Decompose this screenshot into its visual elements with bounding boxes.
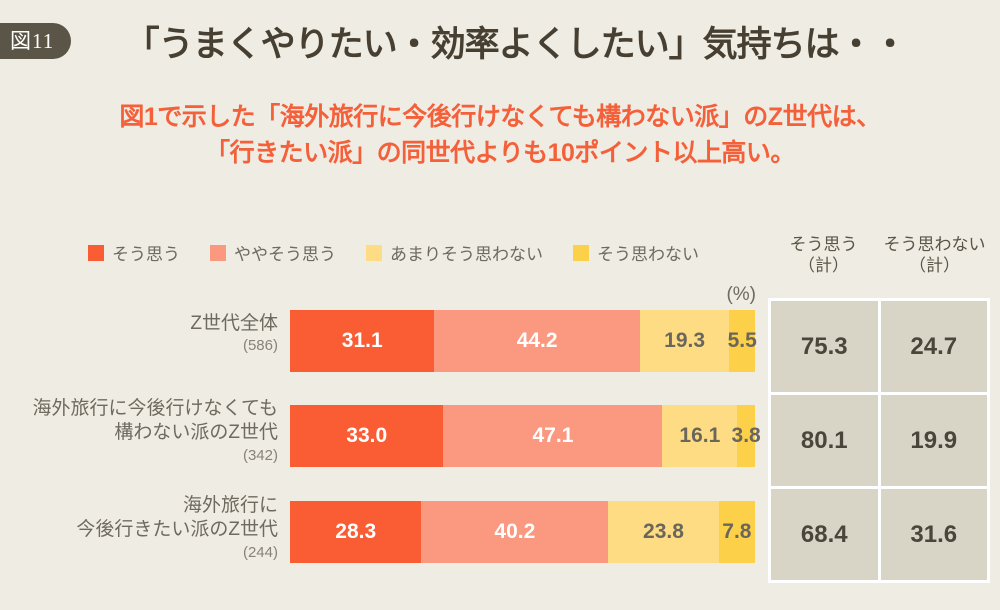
chart-row: 海外旅行に今後行けなくても 構わない派のZ世代 (342) 33.0 47.1 … [0, 397, 760, 492]
bar-segment-somewhat-agree[interactable]: 44.2 [434, 310, 639, 372]
bar-segment-value: 3.8 [732, 424, 761, 448]
bar-segment-value: 23.8 [643, 520, 684, 544]
chart-legend: そう思う ややそう思う あまりそう思わない そう思わない [88, 240, 760, 265]
legend-item-somewhat-agree[interactable]: ややそう思う [210, 240, 336, 265]
bar-segment-value: 5.5 [728, 329, 757, 353]
summary-cell-agree: 68.4 [771, 489, 878, 580]
summary-header-agree-total: そう思う （計） [768, 232, 879, 298]
bar-segment-agree[interactable]: 33.0 [290, 405, 443, 467]
row-label-text: 構わない派のZ世代 [0, 421, 278, 445]
bar-segment-disagree[interactable]: 7.8 [719, 501, 755, 563]
legend-item-agree[interactable]: そう思う [88, 240, 180, 265]
bar-segment-value: 47.1 [533, 424, 574, 448]
page-title: 「うまくやりたい・効率よくしたい」気持ちは・・ [71, 16, 1000, 67]
subtitle-line-1: 図1で示した「海外旅行に今後行けなくても構わない派」のZ世代は、 [0, 100, 1000, 136]
legend-swatch-icon [573, 245, 589, 261]
legend-label: ややそう思う [234, 240, 336, 265]
bar-segment-value: 28.3 [335, 520, 376, 544]
bar-segment-somewhat-agree[interactable]: 47.1 [443, 405, 662, 467]
legend-label: そう思う [112, 240, 180, 265]
legend-label: そう思わない [597, 240, 699, 265]
bar-segment-somewhat-agree[interactable]: 40.2 [421, 501, 608, 563]
row-label: Z世代全体 (586) [0, 312, 278, 354]
row-label: 海外旅行に 今後行きたい派のZ世代 (244) [0, 494, 278, 561]
bar-segment-value: 44.2 [517, 329, 558, 353]
chart-row: 海外旅行に 今後行きたい派のZ世代 (244) 28.3 40.2 23.8 7… [0, 492, 760, 587]
legend-label: あまりそう思わない [390, 240, 543, 265]
chart-row: Z世代全体 (586) 31.1 44.2 19.3 5.5 [0, 302, 760, 397]
bar-segment-agree[interactable]: 28.3 [290, 501, 421, 563]
summary-header-line-1: そう思わない [879, 234, 990, 255]
summary-header-disagree-total: そう思わない （計） [879, 232, 990, 298]
summary-cell-disagree: 24.7 [881, 301, 988, 392]
summary-cell-agree: 75.3 [771, 301, 878, 392]
row-label-text: 海外旅行に [0, 494, 278, 518]
stacked-bar-chart: Z世代全体 (586) 31.1 44.2 19.3 5.5 海外旅行に今後行け… [0, 302, 760, 587]
bar-segment-not-much-agree[interactable]: 16.1 [662, 405, 737, 467]
stacked-bar: 33.0 47.1 16.1 3.8 [290, 405, 755, 467]
legend-swatch-icon [366, 245, 382, 261]
bar-segment-value: 40.2 [494, 520, 535, 544]
legend-item-disagree[interactable]: そう思わない [573, 240, 699, 265]
summary-cell-agree: 80.1 [771, 395, 878, 486]
bar-segment-not-much-agree[interactable]: 23.8 [608, 501, 719, 563]
summary-table-body: 75.3 24.7 80.1 19.9 68.4 31.6 [768, 298, 990, 583]
page-header: 図11 「うまくやりたい・効率よくしたい」気持ちは・・ [0, 0, 1000, 78]
stacked-bar: 28.3 40.2 23.8 7.8 [290, 501, 755, 563]
bar-segment-disagree[interactable]: 3.8 [737, 405, 755, 467]
subtitle: 図1で示した「海外旅行に今後行けなくても構わない派」のZ世代は、 「行きたい派」… [0, 100, 1000, 171]
legend-item-not-much-agree[interactable]: あまりそう思わない [366, 240, 543, 265]
row-label: 海外旅行に今後行けなくても 構わない派のZ世代 (342) [0, 397, 278, 464]
summary-cell-disagree: 19.9 [881, 395, 988, 486]
legend-swatch-icon [88, 245, 104, 261]
summary-header-line-1: そう思う [768, 234, 879, 255]
legend-swatch-icon [210, 245, 226, 261]
summary-cell-disagree: 31.6 [881, 489, 988, 580]
summary-header-line-2: （計） [879, 255, 990, 276]
bar-segment-value: 7.8 [722, 520, 751, 544]
stacked-bar: 31.1 44.2 19.3 5.5 [290, 310, 755, 372]
bar-segment-agree[interactable]: 31.1 [290, 310, 434, 372]
bar-segment-value: 33.0 [346, 424, 387, 448]
summary-table-header: そう思う （計） そう思わない （計） [768, 232, 990, 298]
bar-segment-value: 31.1 [342, 329, 383, 353]
bar-segment-not-much-agree[interactable]: 19.3 [640, 310, 730, 372]
row-sample-size: (586) [0, 337, 278, 354]
bar-segment-value: 19.3 [664, 329, 705, 353]
figure-number-badge: 図11 [0, 23, 71, 59]
row-sample-size: (244) [0, 544, 278, 561]
subtitle-line-2: 「行きたい派」の同世代よりも10ポイント以上高い。 [0, 136, 1000, 172]
row-label-text: Z世代全体 [0, 312, 278, 336]
summary-table: そう思う （計） そう思わない （計） 75.3 24.7 80.1 19.9 … [768, 232, 990, 583]
summary-header-line-2: （計） [768, 255, 879, 276]
row-sample-size: (342) [0, 447, 278, 464]
row-label-text: 今後行きたい派のZ世代 [0, 518, 278, 542]
bar-segment-value: 16.1 [679, 424, 720, 448]
bar-segment-disagree[interactable]: 5.5 [729, 310, 755, 372]
row-label-text: 海外旅行に今後行けなくても [0, 397, 278, 421]
